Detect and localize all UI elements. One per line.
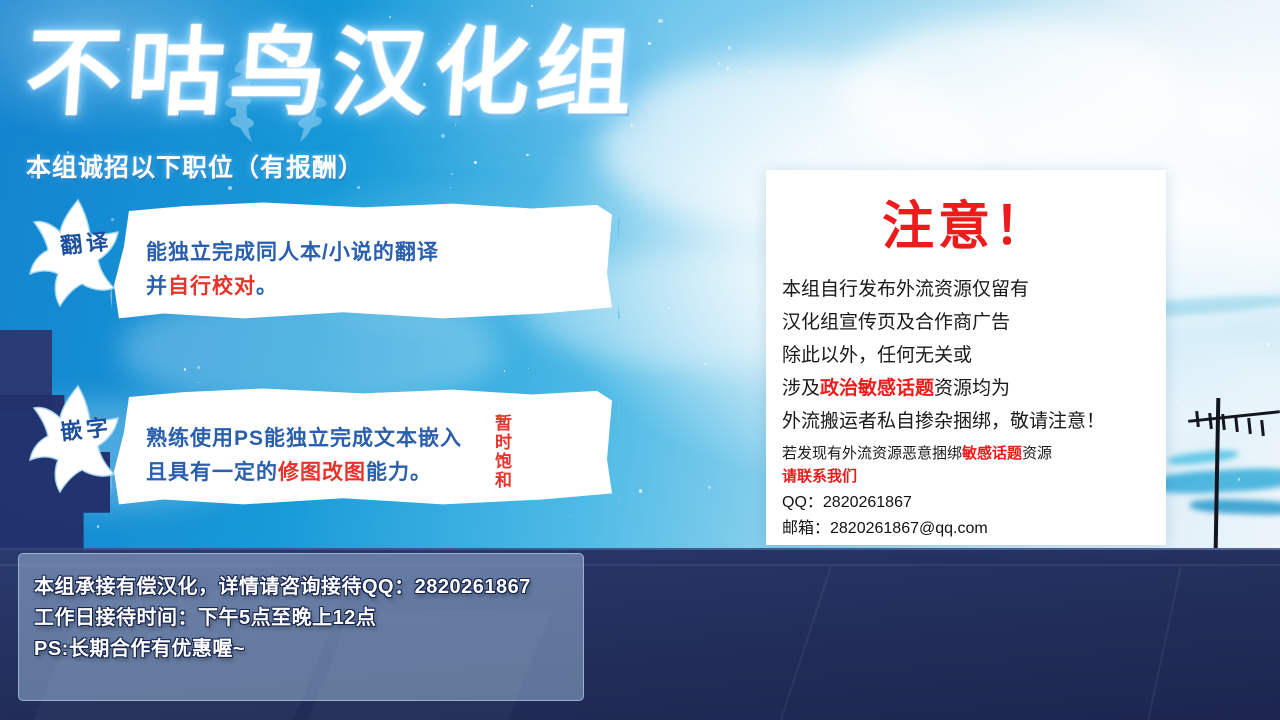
requirement-line2-suffix: 。: [256, 275, 278, 298]
banner-line-2: 工作日接待时间：下午5点至晚上12点: [34, 603, 531, 634]
notice-panel: 注意！ 本组自行发布外流资源仅留有 汉化组宣传页及合作商广告 除此以外，任何无关…: [766, 170, 1166, 545]
notice-body: 本组自行发布外流资源仅留有 汉化组宣传页及合作商广告 除此以外，任何无关或 涉及…: [782, 273, 1166, 438]
notice-line-4-prefix: 涉及: [782, 378, 820, 399]
title-block: 不咕鸟汉化组: [26, 14, 756, 144]
notice-line-2: 汉化组宣传页及合作商广告: [782, 306, 1166, 339]
cloud-decor: [840, 20, 1180, 170]
contact-block: QQ：2820261867 邮箱：2820261867@qq.com: [782, 490, 1166, 542]
requirement-line2-prefix: 且具有一定的: [146, 461, 278, 484]
notice-small-highlight: 敏感话题: [962, 445, 1022, 462]
recruit-row-typesetter: 嵌字 熟练使用PS能独立完成文本嵌入 且具有一定的修图改图能力。 暂时饱和: [18, 382, 638, 512]
promo-page: 不咕鸟汉化组 本组诚招以下职位（有报酬） 翻译 能独立完成同人本/小说的翻译 并…: [0, 0, 1280, 720]
notice-small-line-1: 若发现有外流资源恶意捆绑敏感话题资源: [782, 442, 1166, 465]
notice-title: 注意！: [766, 184, 1166, 259]
position-status-note: 暂时饱和: [490, 414, 512, 490]
ribbon-text: 能独立完成同人本/小说的翻译 并自行校对。: [146, 236, 439, 304]
contact-us-callout: 请联系我们: [782, 465, 1166, 488]
notice-small-prefix: 若发现有外流资源恶意捆绑: [782, 445, 962, 462]
recruit-row-translator: 翻译 能独立完成同人本/小说的翻译 并自行校对。: [18, 196, 638, 326]
notice-line-3: 除此以外，任何无关或: [782, 339, 1166, 372]
ribbon-text: 熟练使用PS能独立完成文本嵌入 且具有一定的修图改图能力。: [146, 422, 462, 490]
contact-qq[interactable]: QQ：2820261867: [782, 490, 1166, 516]
banner-line-3: PS:长期合作有优惠喔~: [34, 634, 531, 665]
notice-line-4-suffix: 资源均为: [934, 378, 1010, 399]
requirement-line2-suffix: 能力。: [366, 461, 432, 484]
page-title: 不咕鸟汉化组: [22, 14, 760, 132]
requirement-line1: 能独立完成同人本/小说的翻译: [146, 241, 439, 264]
notice-small-suffix: 资源: [1022, 445, 1052, 462]
requirement-line2-highlight: 修图改图: [278, 461, 366, 484]
banner-line-1: 本组承接有偿汉化，详情请咨询接待QQ：2820261867: [34, 572, 531, 603]
notice-line-4-highlight: 政治敏感话题: [820, 378, 934, 399]
notice-line-4: 涉及政治敏感话题资源均为: [782, 372, 1166, 405]
page-subtitle: 本组诚招以下职位（有报酬）: [26, 148, 364, 184]
requirement-line2-prefix: 并: [146, 275, 168, 298]
notice-small-print: 若发现有外流资源恶意捆绑敏感话题资源 请联系我们: [782, 442, 1166, 488]
bottom-banner-text: 本组承接有偿汉化，详情请咨询接待QQ：2820261867 工作日接待时间：下午…: [34, 572, 531, 665]
requirement-line1: 熟练使用PS能独立完成文本嵌入: [146, 427, 462, 450]
notice-line-5: 外流搬运者私自掺杂捆绑，敬请注意！: [782, 405, 1166, 438]
notice-line-1: 本组自行发布外流资源仅留有: [782, 273, 1166, 306]
requirement-line2-highlight: 自行校对: [168, 275, 256, 298]
contact-email[interactable]: 邮箱：2820261867@qq.com: [782, 516, 1166, 542]
